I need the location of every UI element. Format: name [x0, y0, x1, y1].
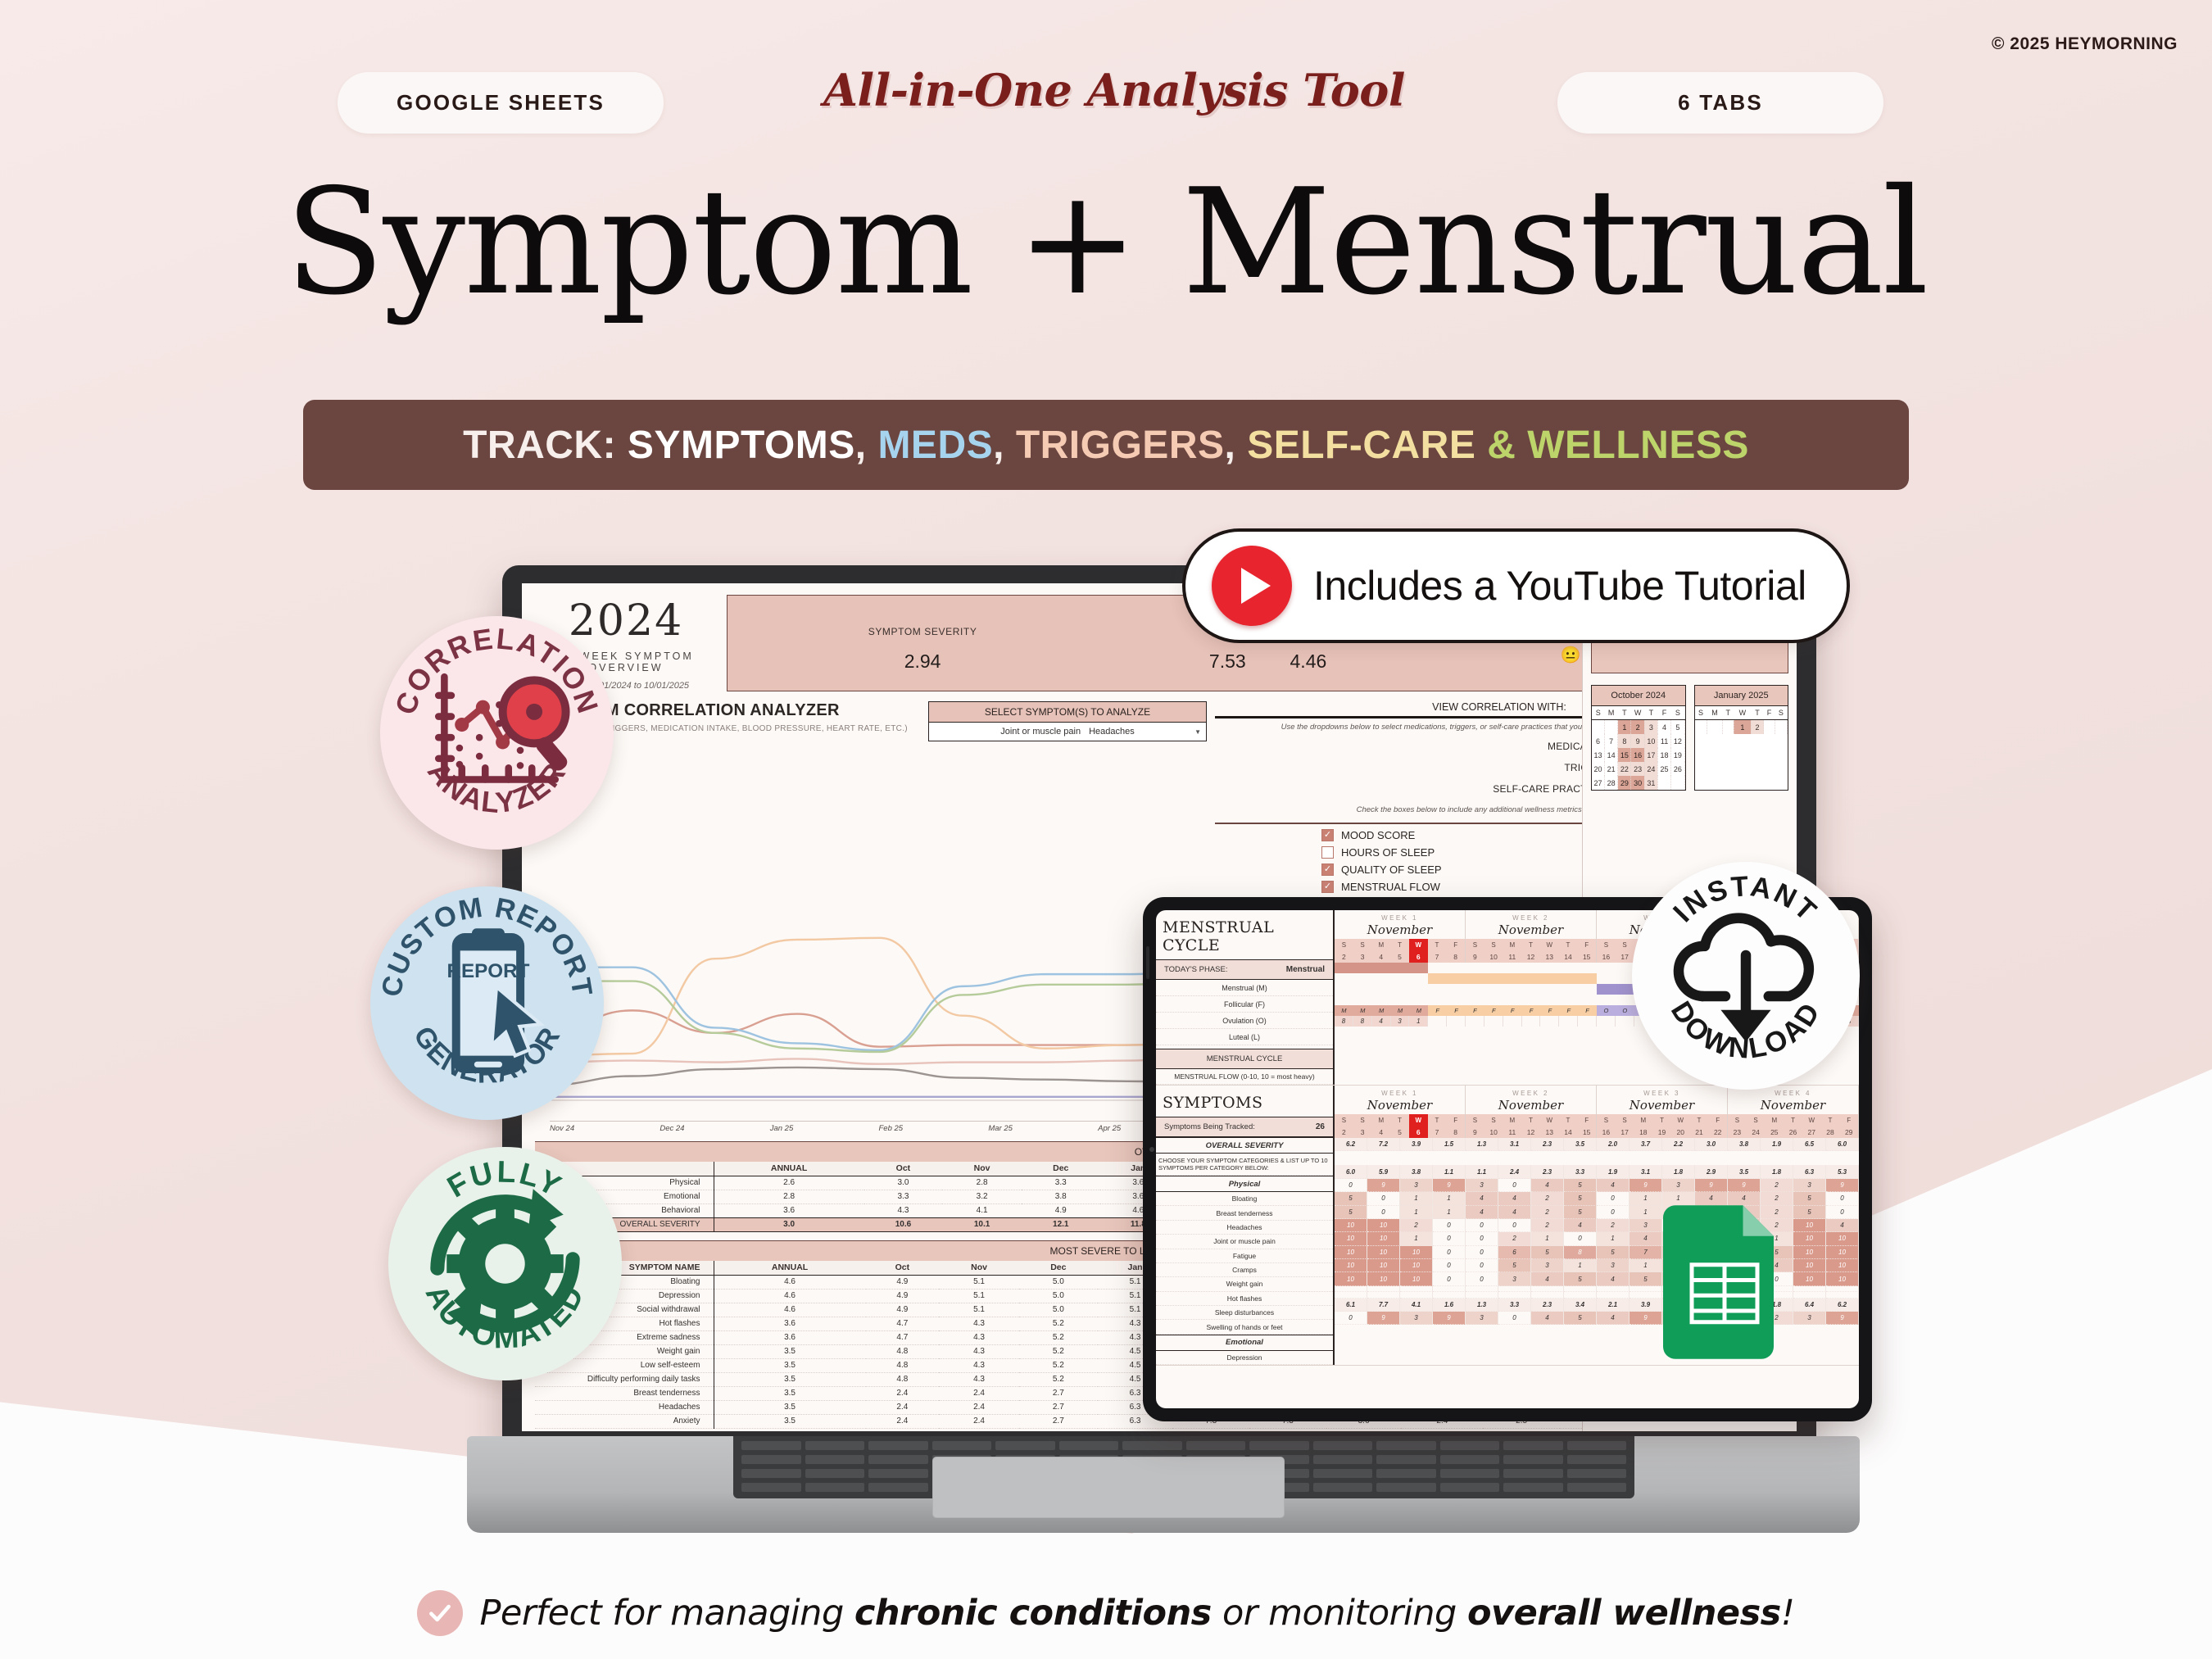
- day-block: SSMTWTF2345678: [1335, 939, 1466, 963]
- youtube-tutorial-badge[interactable]: Includes a YouTube Tutorial: [1182, 528, 1850, 643]
- week-label: WEEK 1: [1335, 914, 1465, 922]
- value-cell: 4: [1826, 1219, 1859, 1232]
- cycle-code-cell: O: [1597, 1005, 1616, 1016]
- value-cell: 3: [1466, 1312, 1498, 1325]
- dow-cell: W: [1409, 939, 1428, 950]
- dow-cell: S: [1597, 939, 1616, 950]
- value-cell: 5.9: [1367, 1165, 1400, 1178]
- cycle-code-cell: F: [1428, 1005, 1447, 1016]
- table-cell: 3.5: [714, 1386, 866, 1400]
- track-item-symptoms: SYMPTOMS: [628, 424, 855, 467]
- table-cell: 3.3: [1022, 1176, 1100, 1190]
- chevron-down-icon[interactable]: ▼: [1194, 728, 1201, 736]
- calendar-day[interactable]: [1592, 720, 1605, 735]
- dow-cell: F: [1446, 939, 1465, 950]
- flow-cell[interactable]: [1428, 1016, 1447, 1027]
- daynum-cell[interactable]: 28: [1821, 1126, 1840, 1138]
- value-cell: 6.4: [1793, 1299, 1826, 1312]
- calendar-week: 13141516171819: [1592, 748, 1684, 762]
- daynum-cell[interactable]: 15: [1577, 950, 1596, 963]
- calendar-day[interactable]: 1: [1734, 720, 1751, 735]
- week-month: November: [1335, 922, 1465, 937]
- value-cell: [1466, 1286, 1498, 1292]
- calendar-day[interactable]: 15: [1618, 748, 1631, 762]
- calendar-day[interactable]: 30: [1631, 776, 1644, 790]
- value-cell: 4: [1564, 1219, 1597, 1232]
- value-cell: 4: [1498, 1192, 1531, 1205]
- daynum-row: 9101112131415: [1466, 1126, 1596, 1138]
- calendar-day[interactable]: 8: [1618, 734, 1631, 748]
- table-cell: 4.6: [714, 1275, 866, 1289]
- table-cell: 4.3: [939, 1344, 1019, 1358]
- value-cell: 3: [1400, 1312, 1433, 1325]
- calendar-day[interactable]: [1671, 776, 1684, 790]
- calendar-month: October 2024SMTWTFS123456789101112131415…: [1591, 685, 1686, 791]
- table-cell: 3.6: [714, 1330, 866, 1344]
- daynum-cell[interactable]: 24: [1747, 1126, 1766, 1138]
- table-cell: 3.3: [864, 1190, 943, 1203]
- table-cell: 3.8: [1022, 1190, 1100, 1203]
- value-cell: 1.9: [1761, 1138, 1793, 1151]
- daynum-cell[interactable]: 7: [1428, 1126, 1447, 1138]
- calendar-dow: S: [1671, 706, 1684, 720]
- daynum-cell[interactable]: 9: [1466, 1126, 1484, 1138]
- flow-cell[interactable]: [1597, 1016, 1616, 1027]
- daynum-cell[interactable]: 14: [1559, 950, 1578, 963]
- calendar-day[interactable]: 28: [1605, 776, 1618, 790]
- week-label: WEEK 2: [1466, 1090, 1596, 1097]
- daynum-cell[interactable]: 13: [1540, 1126, 1559, 1138]
- badge-correlation-analyzer: CORRELATION ANALYZER: [380, 616, 614, 850]
- cycle-code-cell: F: [1466, 1005, 1484, 1016]
- day-block: SSMTWTF2345678: [1335, 1114, 1466, 1138]
- value-cell: 3: [1597, 1259, 1630, 1272]
- value-cell: 1.3: [1466, 1138, 1498, 1151]
- value-cell: 5.3: [1826, 1165, 1859, 1178]
- calendar-day[interactable]: [1775, 720, 1787, 735]
- table-cell: 3.5: [714, 1358, 866, 1372]
- value-cell: [1793, 1292, 1826, 1298]
- calendar-dow: W: [1631, 706, 1644, 720]
- flow-cell[interactable]: 8: [1335, 1016, 1353, 1027]
- daynum-cell[interactable]: 3: [1353, 1126, 1372, 1138]
- checkbox-icon[interactable]: [1321, 881, 1334, 893]
- track-prefix: TRACK:: [463, 424, 616, 467]
- value-cell: 0: [1335, 1179, 1367, 1192]
- value-cell: 2.0: [1597, 1138, 1630, 1151]
- calendar-day[interactable]: 10: [1644, 734, 1657, 748]
- day-block: SSMTWTF9101112131415: [1466, 939, 1597, 963]
- calendar-day[interactable]: 22: [1618, 762, 1631, 776]
- value-cell: 4: [1531, 1312, 1564, 1325]
- calendar-day[interactable]: 7: [1605, 734, 1618, 748]
- value-cell: 0: [1466, 1272, 1498, 1285]
- track-item-wellness: & WELLNESS: [1487, 424, 1749, 467]
- value-cell: 5: [1498, 1259, 1531, 1272]
- daynum-cell[interactable]: 23: [1728, 1126, 1747, 1138]
- daynum-cell[interactable]: 8: [1446, 950, 1465, 963]
- flow-cell[interactable]: [1466, 1016, 1484, 1027]
- table-cell: 4.9: [866, 1303, 940, 1317]
- value-cell: 4: [1466, 1192, 1498, 1205]
- todays-phase-row: TODAY'S PHASE: Menstrual: [1156, 959, 1333, 980]
- value-cell: 10: [1335, 1246, 1367, 1259]
- tablet-side-button: [1146, 946, 1149, 979]
- calendar-day[interactable]: 27: [1592, 776, 1605, 790]
- calendar-day[interactable]: 18: [1657, 748, 1670, 762]
- value-cell: 5: [1597, 1246, 1630, 1259]
- value-cell: 3: [1662, 1179, 1695, 1192]
- daynum-cell[interactable]: 29: [1839, 1126, 1858, 1138]
- daynum-cell[interactable]: 3: [1353, 950, 1372, 963]
- calendar-day[interactable]: 25: [1657, 762, 1670, 776]
- laptop-trackpad: [932, 1457, 1285, 1518]
- calendar-day[interactable]: 26: [1671, 762, 1684, 776]
- daynum-cell[interactable]: 5: [1390, 1126, 1409, 1138]
- track-banner: TRACK: SYMPTOMS, MEDS, TRIGGERS, SELF-CA…: [303, 400, 1909, 490]
- daynum-cell[interactable]: 27: [1802, 1126, 1821, 1138]
- daynum-cell[interactable]: 9: [1466, 950, 1484, 963]
- value-cell: 5: [1793, 1206, 1826, 1219]
- table-cell: 5.0: [1019, 1303, 1098, 1317]
- daynum-cell[interactable]: 4: [1371, 1126, 1390, 1138]
- categories-note: CHOOSE YOUR SYMPTOM CATEGORIES & LIST UP…: [1156, 1154, 1333, 1176]
- value-cell: 7: [1630, 1246, 1662, 1259]
- dow-cell: W: [1671, 1114, 1690, 1126]
- calendar-day[interactable]: 2: [1751, 720, 1763, 735]
- daynum-cell[interactable]: 10: [1484, 1126, 1503, 1138]
- dow-cell: M: [1634, 1114, 1652, 1126]
- value-cell: 6.3: [1793, 1165, 1826, 1178]
- calendar-day[interactable]: 13: [1592, 748, 1605, 762]
- value-cell: [1531, 1286, 1564, 1292]
- dow-cell: S: [1335, 939, 1353, 950]
- value-cell: 1.1: [1466, 1165, 1498, 1178]
- calendar-day[interactable]: [1605, 720, 1618, 735]
- cycle-row-label-wrap: MENSTRUAL CYCLE: [1156, 1049, 1333, 1069]
- daynum-cell[interactable]: 19: [1652, 1126, 1671, 1138]
- calendar-day[interactable]: [1707, 720, 1723, 735]
- value-cell: 3: [1793, 1179, 1826, 1192]
- table-cell: 2.4: [939, 1386, 1019, 1400]
- value-cell: 9: [1826, 1312, 1859, 1325]
- dow-cell: M: [1371, 939, 1390, 950]
- badge-fully-automated: FULLY AUTOMATED: [388, 1147, 622, 1380]
- value-cell: 2: [1531, 1192, 1564, 1205]
- value-cell: 10: [1826, 1259, 1859, 1272]
- dow-cell: S: [1616, 1114, 1634, 1126]
- daynum-cell[interactable]: 8: [1446, 1126, 1465, 1138]
- dow-cell: T: [1521, 1114, 1540, 1126]
- table-cell: 3.6: [714, 1317, 866, 1330]
- checkbox-icon[interactable]: [1321, 863, 1334, 876]
- calendar-dow: T: [1644, 706, 1657, 720]
- row-label: Anxiety: [535, 1414, 714, 1428]
- flow-cell[interactable]: [1522, 1016, 1541, 1027]
- daynum-cell[interactable]: 15: [1577, 1126, 1596, 1138]
- selected-symptom-1: Joint or muscle pain: [1000, 727, 1081, 737]
- cycle-code-cell: M: [1372, 1005, 1391, 1016]
- table-cell: 3.5: [714, 1344, 866, 1358]
- flow-cell[interactable]: 8: [1353, 1016, 1372, 1027]
- daynum-cell[interactable]: 6: [1409, 1126, 1428, 1138]
- symptom-name: Hot flashes: [1156, 1292, 1333, 1306]
- x-tick-label: Jan 25: [770, 1124, 794, 1133]
- day-block: SSMTWTF9101112131415: [1466, 1114, 1597, 1138]
- calendar-day[interactable]: 23: [1631, 762, 1644, 776]
- value-cell: [1793, 1286, 1826, 1292]
- value-cell: 5: [1630, 1272, 1662, 1285]
- value-cell: 10: [1367, 1259, 1400, 1272]
- daynum-cell[interactable]: 16: [1597, 1126, 1616, 1138]
- daynum-cell[interactable]: 7: [1428, 950, 1447, 963]
- symptom-select-header: SELECT SYMPTOM(S) TO ANALYZE: [928, 701, 1207, 723]
- value-cell: 2: [1400, 1219, 1433, 1232]
- dow-cell: F: [1446, 1114, 1465, 1126]
- flow-cell[interactable]: [1503, 1016, 1522, 1027]
- flow-cell[interactable]: 4: [1372, 1016, 1391, 1027]
- table-cell: 2.7: [1019, 1386, 1098, 1400]
- symptom-select-control[interactable]: SELECT SYMPTOM(S) TO ANALYZE Joint or mu…: [928, 701, 1207, 910]
- value-cell: [1466, 1292, 1498, 1298]
- calendar-day[interactable]: [1764, 720, 1775, 735]
- cycle-code-cell: F: [1540, 1005, 1559, 1016]
- value-cell: 5: [1335, 1192, 1367, 1205]
- calendar-day[interactable]: 12: [1671, 734, 1684, 748]
- daynum-cell[interactable]: 12: [1521, 950, 1540, 963]
- calendar-day[interactable]: 1: [1618, 720, 1631, 735]
- calendar-day[interactable]: 11: [1657, 734, 1670, 748]
- table-cell: 5.1: [939, 1289, 1019, 1303]
- row-label: Headaches: [535, 1400, 714, 1414]
- badge-inner-label: REPORT: [446, 960, 529, 982]
- calendar-day[interactable]: [1657, 776, 1670, 790]
- todays-phase-label: TODAY'S PHASE:: [1164, 965, 1227, 974]
- daynum-row: 9101112131415: [1466, 950, 1596, 963]
- table-cell: 3.5: [714, 1414, 866, 1428]
- table-cell: 2.4: [866, 1400, 940, 1414]
- x-tick-label: Mar 25: [988, 1124, 1013, 1133]
- calendar-dow: S: [1695, 706, 1707, 720]
- badge-custom-report-generator: CUSTOM REPORT GENERATOR REPORT: [370, 886, 604, 1120]
- checkbox-icon[interactable]: [1321, 829, 1334, 841]
- value-cell: 3.1: [1498, 1138, 1531, 1151]
- value-cell: 0: [1433, 1246, 1466, 1259]
- dow-cell: T: [1559, 1114, 1578, 1126]
- calendar-day[interactable]: 17: [1644, 748, 1657, 762]
- selected-symptom-2: Headaches: [1089, 727, 1135, 737]
- value-cell: 10: [1400, 1272, 1433, 1285]
- flow-cell[interactable]: 1: [1409, 1016, 1428, 1027]
- calendar-day[interactable]: 3: [1644, 720, 1657, 735]
- dow-cell: F: [1839, 1114, 1858, 1126]
- footer-part-2: chronic conditions: [854, 1593, 1212, 1634]
- daynum-cell[interactable]: 17: [1616, 1126, 1634, 1138]
- value-cell: [1564, 1292, 1597, 1298]
- value-cell: 2.1: [1597, 1299, 1630, 1312]
- calendar-dow: M: [1707, 706, 1723, 720]
- dow-cell: S: [1335, 1114, 1353, 1126]
- daynum-cell[interactable]: 4: [1371, 950, 1390, 963]
- daynum-cell[interactable]: 13: [1540, 950, 1559, 963]
- value-cell: 10: [1367, 1272, 1400, 1285]
- daynum-cell[interactable]: 22: [1708, 1126, 1727, 1138]
- value-cell: 10: [1826, 1272, 1859, 1285]
- column-header: Dec: [1019, 1261, 1098, 1276]
- flow-cell[interactable]: 3: [1391, 1016, 1410, 1027]
- value-cell: 3.5: [1728, 1165, 1761, 1178]
- dow-cell: F: [1708, 1114, 1727, 1126]
- x-tick-label: Feb 25: [879, 1124, 904, 1133]
- calendar-dow: M: [1605, 706, 1618, 720]
- daynum-cell[interactable]: 11: [1503, 1126, 1521, 1138]
- value-cell: 3: [1531, 1259, 1564, 1272]
- checkbox-icon[interactable]: [1321, 846, 1334, 859]
- daynum-cell[interactable]: 25: [1765, 1126, 1784, 1138]
- value-cell: 5: [1531, 1246, 1564, 1259]
- table-cell: 4.9: [1022, 1203, 1100, 1217]
- daynum-cell[interactable]: 18: [1634, 1126, 1652, 1138]
- track-item-selfcare: SELF-CARE: [1247, 424, 1475, 467]
- flow-cell[interactable]: [1578, 1016, 1597, 1027]
- value-cell: 3.9: [1400, 1138, 1433, 1151]
- table-cell: 3.5: [714, 1400, 866, 1414]
- value-cell: 0: [1367, 1192, 1400, 1205]
- daynum-cell[interactable]: 2: [1335, 950, 1353, 963]
- value-cell: 3: [1498, 1272, 1531, 1285]
- flow-cell[interactable]: [1559, 1016, 1578, 1027]
- tablet-camera-icon: [1149, 1147, 1154, 1152]
- daynum-cell[interactable]: 2: [1335, 1126, 1353, 1138]
- daynum-cell[interactable]: 5: [1390, 950, 1409, 963]
- flow-cell[interactable]: [1540, 1016, 1559, 1027]
- value-cell: [1433, 1286, 1466, 1292]
- daynum-cell[interactable]: 20: [1671, 1126, 1690, 1138]
- cycle-code-cell: F: [1484, 1005, 1503, 1016]
- calendar-day[interactable]: [1722, 720, 1734, 735]
- physical-severity-values: 6.05.93.81.11.12.42.33.31.93.11.82.93.51…: [1335, 1165, 1859, 1178]
- calendar-day[interactable]: 19: [1671, 748, 1684, 762]
- cycle-left-column: MENSTRUAL CYCLE TODAY'S PHASE: Menstrual…: [1156, 910, 1335, 1085]
- calendar-day[interactable]: 14: [1605, 748, 1618, 762]
- daynum-cell[interactable]: 11: [1503, 950, 1521, 963]
- category-emotional-label: Emotional: [1156, 1335, 1333, 1351]
- calendar-day[interactable]: [1695, 720, 1707, 735]
- calendar-dow: W: [1734, 706, 1751, 720]
- daynum-cell[interactable]: 21: [1690, 1126, 1709, 1138]
- track-item-meds: MEDS: [877, 424, 993, 467]
- table-cell: 3.0: [714, 1217, 864, 1231]
- daynum-row: 16171819202122: [1597, 1126, 1727, 1138]
- value-cell: 1: [1400, 1192, 1433, 1205]
- symptom-name: Weight gain: [1156, 1277, 1333, 1291]
- value-cell: 0: [1466, 1246, 1498, 1259]
- value-cell: [1498, 1292, 1531, 1298]
- kpi-value: 2.94: [868, 650, 977, 673]
- daynum-cell[interactable]: 10: [1484, 950, 1503, 963]
- calendar-day[interactable]: 5: [1671, 720, 1684, 735]
- calendar-day[interactable]: 24: [1644, 762, 1657, 776]
- value-cell: 10: [1793, 1219, 1826, 1232]
- value-cell: 10: [1335, 1232, 1367, 1245]
- calendar-week: 6789101112: [1592, 734, 1684, 748]
- value-cell: [1597, 1292, 1630, 1298]
- table-cell: 4.3: [864, 1203, 943, 1217]
- calendar-day[interactable]: 29: [1618, 776, 1631, 790]
- value-cell: 4: [1531, 1272, 1564, 1285]
- calendar-day[interactable]: 31: [1644, 776, 1657, 790]
- dow-row: SSMTWTF: [1728, 1114, 1858, 1126]
- calendar-week: 2728293031: [1592, 776, 1684, 790]
- symptom-name: Swelling of hands or feet: [1156, 1320, 1333, 1334]
- dow-cell: S: [1466, 1114, 1484, 1126]
- value-cell: 3.3: [1498, 1299, 1531, 1312]
- column-header: Oct: [866, 1261, 940, 1276]
- value-cell: 1: [1630, 1206, 1662, 1219]
- table-cell: 4.6: [714, 1303, 866, 1317]
- dow-row: SSMTWTF: [1466, 1114, 1596, 1126]
- daynum-cell[interactable]: 12: [1521, 1126, 1540, 1138]
- week-month: November: [1597, 1098, 1727, 1113]
- table-cell: 2.4: [939, 1400, 1019, 1414]
- week-block: WEEK 2November: [1466, 910, 1597, 939]
- calendar-day[interactable]: 16: [1631, 748, 1644, 762]
- daynum-cell[interactable]: 6: [1409, 950, 1428, 963]
- symptom-name: Depression: [1156, 1351, 1333, 1365]
- dow-cell: M: [1503, 1114, 1521, 1126]
- daynum-cell[interactable]: 14: [1559, 1126, 1578, 1138]
- calendar-day[interactable]: 21: [1605, 762, 1618, 776]
- calendar-day[interactable]: 9: [1631, 734, 1644, 748]
- dow-cell: S: [1747, 1114, 1766, 1126]
- emotional-symptom-names: Depression: [1156, 1351, 1333, 1365]
- dow-cell: T: [1428, 939, 1447, 950]
- value-cell: 5: [1564, 1312, 1597, 1325]
- week-month: November: [1466, 922, 1596, 937]
- cycle-code-cell: M: [1391, 1005, 1410, 1016]
- dow-cell: S: [1484, 939, 1503, 950]
- dow-cell: T: [1652, 1114, 1671, 1126]
- column-header: Dec: [1022, 1162, 1100, 1176]
- table-cell: 4.8: [866, 1372, 940, 1386]
- table-cell: 10.1: [942, 1217, 1022, 1231]
- google-sheets-icon: [1663, 1204, 1786, 1360]
- calendar-week: 12: [1695, 720, 1788, 735]
- value-cell: 3.7: [1630, 1138, 1662, 1151]
- dow-cell: W: [1802, 1114, 1821, 1126]
- flow-cell[interactable]: [1447, 1016, 1466, 1027]
- daynum-cell[interactable]: 16: [1597, 950, 1616, 963]
- value-cell: 1.8: [1662, 1165, 1695, 1178]
- calendar-day[interactable]: 6: [1592, 734, 1605, 748]
- value-cell: 0: [1564, 1232, 1597, 1245]
- daynum-cell[interactable]: 26: [1784, 1126, 1802, 1138]
- dow-cell: M: [1765, 1114, 1784, 1126]
- dow-cell: T: [1690, 1114, 1709, 1126]
- calendar-day[interactable]: 4: [1657, 720, 1670, 735]
- value-cell: 10: [1367, 1246, 1400, 1259]
- mood-emoji-icon: 😐: [1561, 645, 1581, 665]
- calendar-day[interactable]: 20: [1592, 762, 1605, 776]
- cycle-code-cell: F: [1559, 1005, 1578, 1016]
- column-header: Nov: [939, 1261, 1019, 1276]
- calendar-day[interactable]: 2: [1631, 720, 1644, 735]
- flow-cell[interactable]: [1484, 1016, 1503, 1027]
- column-header: ANNUAL: [714, 1261, 866, 1276]
- value-cell: [1630, 1292, 1662, 1298]
- table-cell: 3.0: [864, 1176, 943, 1190]
- play-icon: [1212, 546, 1292, 626]
